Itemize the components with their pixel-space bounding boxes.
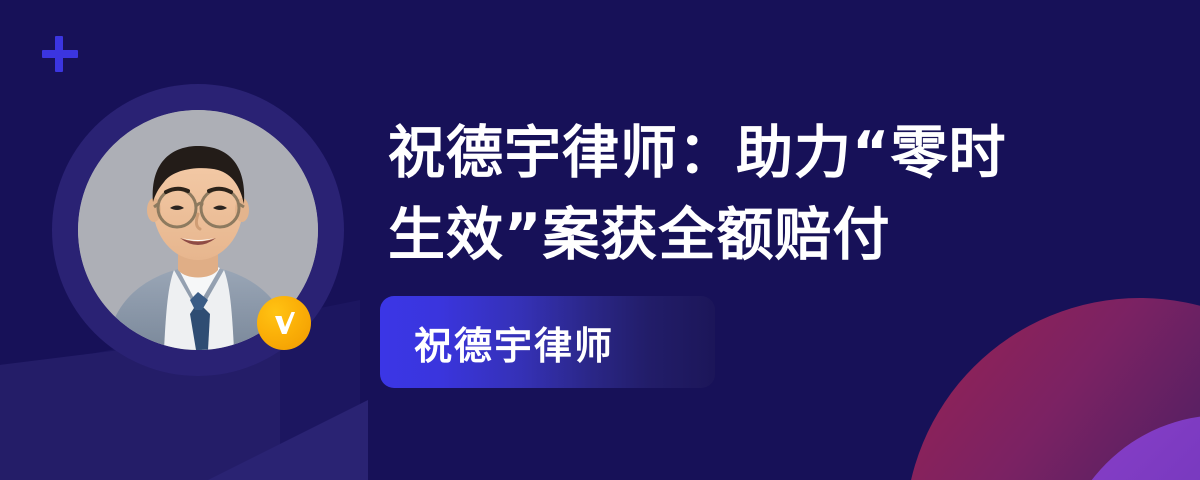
lawyer-name-chip[interactable]: 祝德宇律师 <box>380 296 715 388</box>
crimson-glow-circle <box>905 298 1200 480</box>
lawyer-name-label: 祝德宇律师 <box>380 315 614 370</box>
plus-icon <box>42 36 78 72</box>
background-polygon-triangle <box>188 400 368 480</box>
violet-glow-circle <box>1058 415 1200 480</box>
page-title: 祝德宇律师：助力“零时 生效”案获全额赔付 <box>388 112 1178 276</box>
lawyer-promo-banner: 祝德宇律师：助力“零时 生效”案获全额赔付 祝德宇律师 <box>0 0 1200 480</box>
verified-check-icon <box>257 296 311 350</box>
avatar <box>52 84 344 376</box>
